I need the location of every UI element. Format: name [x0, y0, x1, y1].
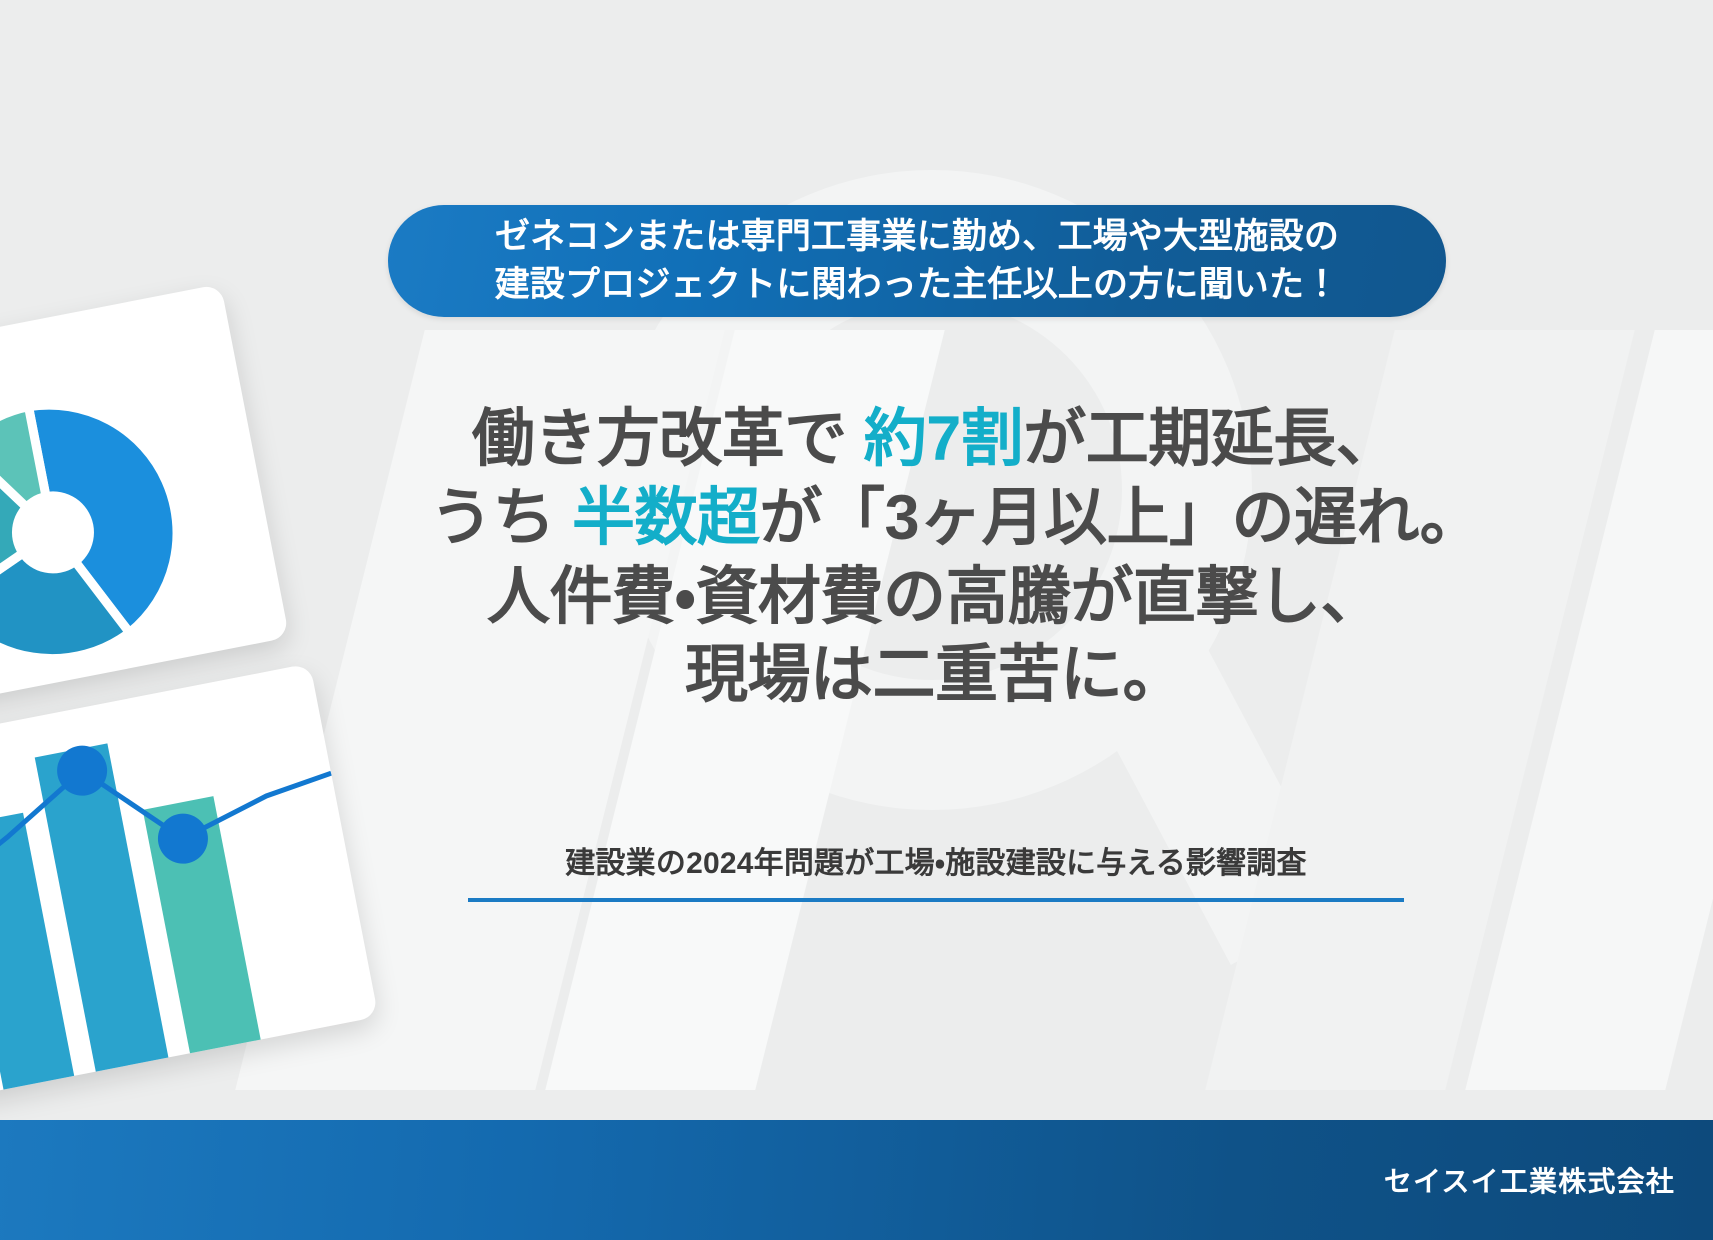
subtitle-underline: 建設業の2024年問題が工場・施設建設に与える影響調査 — [468, 838, 1404, 902]
headline-segment: 現場は二重苦に。 — [685, 640, 1185, 710]
headline-line-2: うち 半数超が「3ヶ月以上」の遅れ。 — [430, 479, 1440, 558]
banner-text: ゼネコンまたは専門工事業に勤め、工場や大型施設の 建設プロジェクトに関わった主任… — [469, 213, 1366, 310]
slide-canvas: ゼネコンまたは専門工事業に勤め、工場や大型施設の 建設プロジェクトに関わった主任… — [0, 0, 1713, 1240]
headline-segment: 働き方改革で — [472, 404, 864, 474]
headline-highlight: 約7割 — [864, 404, 1024, 474]
donut-chart-card — [0, 284, 289, 700]
headline-segment: が工期延長、 — [1023, 404, 1398, 474]
headline-segment: が「3ヶ月以上」の遅れ。 — [760, 483, 1483, 553]
headline-line-1: 働き方改革で 約7割が工期延長、 — [430, 400, 1440, 479]
footer-bar: セイスイ工業株式会社 — [0, 1120, 1713, 1240]
headline-highlight: 半数超 — [572, 483, 760, 553]
donut-chart-icon — [0, 284, 289, 700]
headline-line-4: 現場は二重苦に。 — [430, 636, 1440, 715]
background-diagonal-sheet — [1465, 330, 1713, 1090]
company-name: セイスイ工業株式会社 — [1384, 1160, 1675, 1200]
headline-segment: 人件費・資材費の高騰が直撃し、 — [487, 562, 1383, 632]
headline-line-3: 人件費・資材費の高騰が直撃し、 — [430, 558, 1440, 637]
headline: 働き方改革で 約7割が工期延長、うち 半数超が「3ヶ月以上」の遅れ。人件費・資材… — [430, 400, 1440, 715]
bar-chart-card — [0, 663, 378, 1097]
survey-respondent-banner: ゼネコンまたは専門工事業に勤め、工場や大型施設の 建設プロジェクトに関わった主任… — [388, 205, 1446, 317]
bar-line-chart-icon — [0, 663, 378, 1097]
subtitle-text: 建設業の2024年問題が工場・施設建設に与える影響調査 — [468, 838, 1404, 882]
headline-segment: うち — [430, 483, 572, 553]
